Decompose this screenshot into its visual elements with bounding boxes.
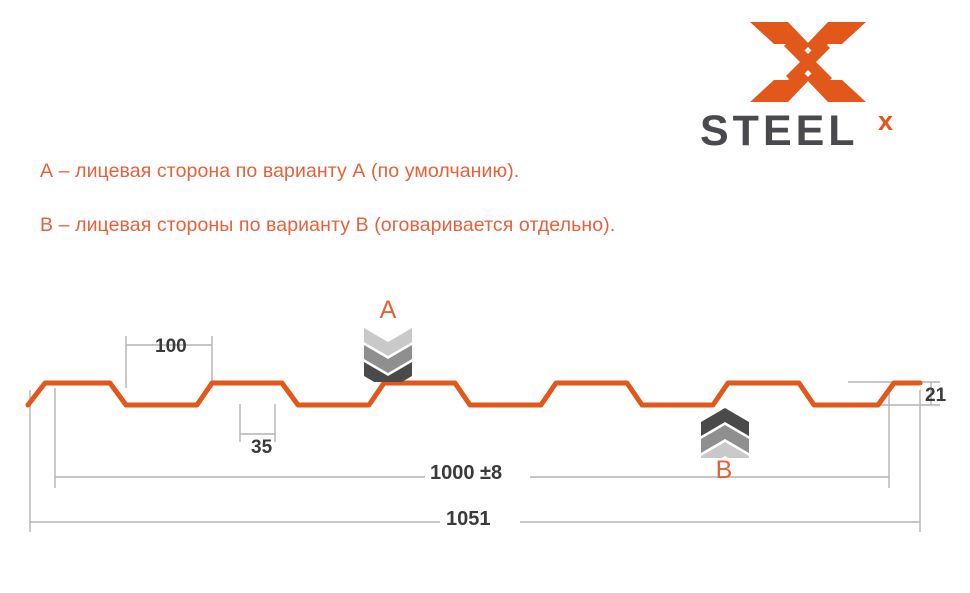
corrugated-profile-line xyxy=(28,383,920,405)
dimension-label-total-width: 1051 xyxy=(446,508,491,531)
dimension-label-pitch: 100 xyxy=(155,336,187,358)
note-variant-a: А – лицевая сторона по варианту А (по ум… xyxy=(40,160,519,183)
dimension-label-height: 21 xyxy=(925,385,946,407)
chevron-up-icon xyxy=(699,402,751,458)
steelx-wordmark: STEEL x xyxy=(700,108,935,154)
dimension-label-valley: 35 xyxy=(251,437,272,459)
note-variant-b: В – лицевая стороны по варианту В (огова… xyxy=(40,214,615,237)
drawing-canvas: STEEL x А – лицевая сторона по варианту … xyxy=(0,0,970,593)
dimension-extension-lines xyxy=(30,336,940,532)
chevron-down-icon xyxy=(362,326,414,382)
wordmark-superscript: x xyxy=(878,108,893,136)
wordmark-text: STEEL xyxy=(700,108,859,154)
marker-b-label: В xyxy=(704,456,744,485)
dimension-label-working-width: 1000 ±8 xyxy=(430,462,502,485)
steelx-x-logo-icon xyxy=(748,18,868,106)
brand-logo: STEEL x xyxy=(700,12,940,152)
marker-a-label: А xyxy=(368,296,408,325)
